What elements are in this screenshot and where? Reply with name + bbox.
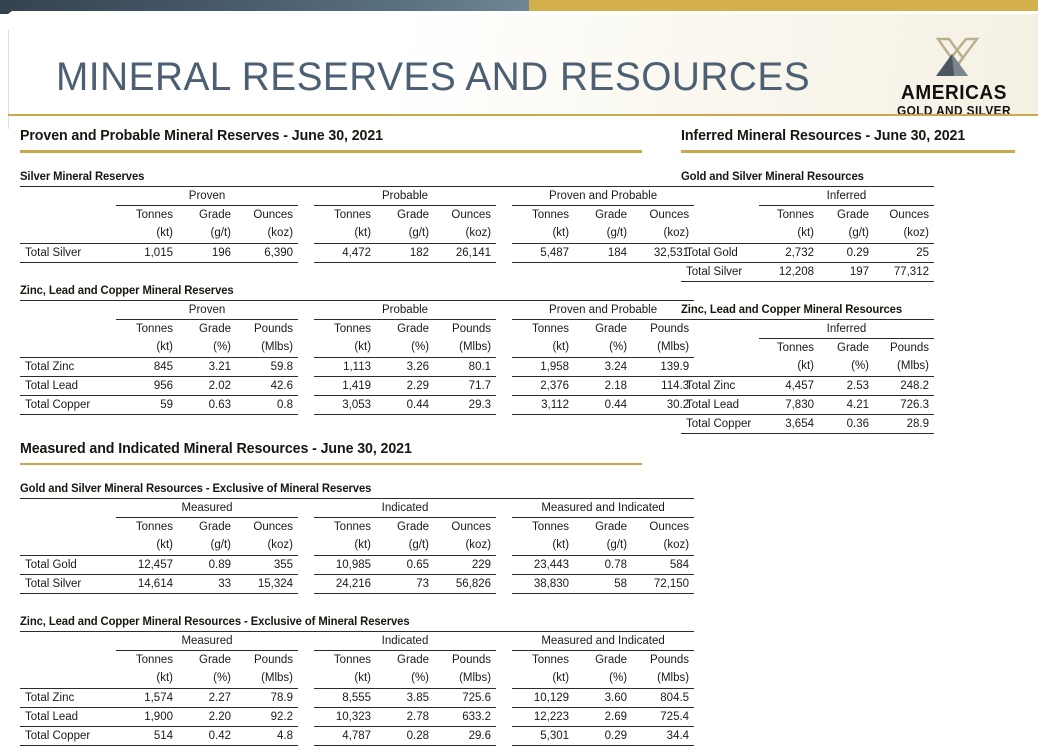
unit-kt: (kt) (512, 536, 574, 556)
cell-value: 56,826 (434, 575, 496, 594)
table-gold-silver-measured-indicated: Measured Indicated Measured and Indicate… (20, 498, 694, 594)
cell-value: 0.28 (376, 727, 434, 746)
unit-mlbs: (Mlbs) (434, 669, 496, 689)
cell-value: 3.26 (376, 357, 434, 376)
cell-value: 80.1 (434, 357, 496, 376)
cell-value: 34.4 (632, 727, 694, 746)
table-row: (kt) (%) (Mlbs) (kt) (%) (Mlbs) (kt) (%)… (20, 338, 694, 358)
unit-koz: (koz) (434, 224, 496, 244)
unit-kt: (kt) (314, 536, 376, 556)
cell-value: 0.44 (574, 395, 632, 414)
unit-gt: (g/t) (178, 224, 236, 244)
unit-kt: (kt) (116, 669, 178, 689)
col-header-ounces: Ounces (236, 518, 298, 537)
unit-mlbs: (Mlbs) (434, 338, 496, 358)
col-header-grade: Grade (574, 205, 632, 224)
col-header-tonnes: Tonnes (116, 319, 178, 338)
gap-cell (496, 338, 512, 358)
cell-value: 25 (874, 243, 934, 262)
subtitle-gold-silver-mi: Gold and Silver Mineral Resources - Excl… (20, 483, 651, 495)
col-header-tonnes: Tonnes (512, 319, 574, 338)
cell-value: 2.53 (819, 376, 874, 395)
gap-cell (298, 376, 314, 395)
gap-cell (298, 708, 314, 727)
col-header-tonnes: Tonnes (116, 651, 178, 670)
gap-cell (298, 632, 314, 651)
unit-koz: (koz) (632, 536, 694, 556)
company-logo: AMERICAS GOLD AND SILVER (880, 36, 1028, 124)
col-header-grade: Grade (178, 651, 236, 670)
table-row: (kt) (%) (Mlbs) (681, 357, 934, 377)
cell-value: 59 (116, 395, 178, 414)
section-title-inferred: Inferred Mineral Resources - June 30, 20… (681, 128, 1012, 144)
spacer-cell (20, 224, 116, 244)
cell-value: 12,457 (116, 556, 178, 575)
spacer-cell (20, 536, 116, 556)
unit-gt: (g/t) (376, 536, 434, 556)
cell-value: 24,216 (314, 575, 376, 594)
col-header-grade: Grade (178, 319, 236, 338)
cell-value: 584 (632, 556, 694, 575)
col-header-grade: Grade (574, 319, 632, 338)
gap-cell (496, 518, 512, 537)
row-label: Total Zinc (681, 376, 759, 395)
gap-cell (298, 300, 314, 319)
group-header-measured: Measured (116, 632, 298, 651)
gap-cell (496, 357, 512, 376)
unit-mlbs: (Mlbs) (236, 338, 298, 358)
cell-value: 10,323 (314, 708, 376, 727)
col-header-grade: Grade (574, 518, 632, 537)
group-header-proven: Proven (116, 300, 298, 319)
top-decorative-bars (0, 0, 1038, 14)
spacer-cell (20, 319, 116, 338)
cell-value: 3.85 (376, 689, 434, 708)
cell-value: 0.8 (236, 395, 298, 414)
slate-accent-bar (0, 0, 529, 11)
section-measured-indicated-resources: Measured and Indicated Mineral Resources… (20, 441, 664, 746)
gap-cell (496, 727, 512, 746)
cell-value: 956 (116, 376, 178, 395)
table-row: Total Zinc 845 3.21 59.8 1,113 3.26 80.1… (20, 357, 694, 376)
cell-value: 23,443 (512, 556, 574, 575)
unit-kt: (kt) (116, 338, 178, 358)
unit-mlbs: (Mlbs) (874, 357, 934, 377)
cell-value: 4,472 (314, 243, 376, 262)
col-header-grade: Grade (376, 205, 434, 224)
spacer-cell (681, 224, 759, 244)
row-label: Total Lead (20, 708, 116, 727)
gap-cell (496, 319, 512, 338)
cell-value: 2.02 (178, 376, 236, 395)
spacer-cell (20, 300, 116, 319)
row-label: Total Silver (20, 575, 116, 594)
table-gold-silver-inferred: Inferred Tonnes Grade Ounces (kt) (g/t) … (681, 186, 934, 282)
section-title-reserves: Proven and Probable Mineral Reserves - J… (20, 128, 651, 144)
unit-mlbs: (Mlbs) (632, 669, 694, 689)
unit-koz: (koz) (434, 536, 496, 556)
cell-value: 4,787 (314, 727, 376, 746)
row-label: Total Copper (20, 727, 116, 746)
row-label: Total Gold (681, 243, 759, 262)
col-header-tonnes: Tonnes (314, 319, 376, 338)
group-header-proven-probable: Proven and Probable (512, 300, 694, 319)
cell-value: 4.8 (236, 727, 298, 746)
table-row: Total Lead 956 2.02 42.6 1,419 2.29 71.7… (20, 376, 694, 395)
unit-gt: (g/t) (574, 536, 632, 556)
gap-cell (496, 536, 512, 556)
cell-value: 2.69 (574, 708, 632, 727)
spacer-cell (20, 338, 116, 358)
cell-value: 633.2 (434, 708, 496, 727)
table-row: Total Zinc 4,457 2.53 248.2 (681, 376, 934, 395)
col-header-ounces: Ounces (434, 518, 496, 537)
cell-value: 1,958 (512, 357, 574, 376)
cell-value: 7,830 (759, 395, 819, 414)
col-header-tonnes: Tonnes (314, 518, 376, 537)
col-header-tonnes: Tonnes (314, 651, 376, 670)
gap-cell (496, 651, 512, 670)
cell-value: 8,555 (314, 689, 376, 708)
gap-cell (298, 319, 314, 338)
cell-value: 78.9 (236, 689, 298, 708)
table-row: Total Silver 14,614 33 15,324 24,216 73 … (20, 575, 694, 594)
gap-cell (298, 518, 314, 537)
subtitle-base-metal-mi: Zinc, Lead and Copper Mineral Resources … (20, 616, 651, 628)
unit-kt: (kt) (116, 224, 178, 244)
gap-cell (496, 669, 512, 689)
cell-value: 0.63 (178, 395, 236, 414)
cell-value: 1,419 (314, 376, 376, 395)
cell-value: 5,301 (512, 727, 574, 746)
cell-value: 0.29 (819, 243, 874, 262)
cell-value: 72,150 (632, 575, 694, 594)
unit-gt: (g/t) (574, 224, 632, 244)
group-header-probable: Probable (314, 300, 496, 319)
unit-pct: (%) (376, 669, 434, 689)
unit-gt: (g/t) (178, 536, 236, 556)
cell-value: 0.36 (819, 414, 874, 433)
col-header-pounds: Pounds (632, 651, 694, 670)
left-column: Proven and Probable Mineral Reserves - J… (20, 128, 664, 746)
cell-value: 10,985 (314, 556, 376, 575)
table-row: (kt) (g/t) (koz) (kt) (g/t) (koz) (kt) (… (20, 224, 694, 244)
americas-logo-mark (916, 36, 988, 82)
gap-cell (496, 395, 512, 414)
cell-value: 0.78 (574, 556, 632, 575)
cell-value: 1,113 (314, 357, 376, 376)
gap-cell (298, 536, 314, 556)
cell-value: 15,324 (236, 575, 298, 594)
gap-cell (298, 205, 314, 224)
unit-kt: (kt) (116, 536, 178, 556)
cell-value: 28.9 (874, 414, 934, 433)
unit-pct: (%) (178, 669, 236, 689)
col-header-tonnes: Tonnes (512, 205, 574, 224)
cell-value: 29.6 (434, 727, 496, 746)
right-column: Inferred Mineral Resources - June 30, 20… (681, 128, 1019, 434)
spacer-cell (20, 651, 116, 670)
table-row: (kt) (g/t) (koz) (kt) (g/t) (koz) (kt) (… (20, 536, 694, 556)
unit-kt: (kt) (314, 338, 376, 358)
group-header-indicated: Indicated (314, 632, 496, 651)
table-row: Measured Indicated Measured and Indicate… (20, 499, 694, 518)
row-label: Total Gold (20, 556, 116, 575)
subtitle-gold-silver-inferred: Gold and Silver Mineral Resources (681, 171, 1012, 183)
unit-koz: (koz) (236, 224, 298, 244)
cell-value: 2.20 (178, 708, 236, 727)
col-header-tonnes: Tonnes (512, 651, 574, 670)
subtitle-base-metal-reserves: Zinc, Lead and Copper Mineral Reserves (20, 285, 651, 297)
section-title-measured-indicated: Measured and Indicated Mineral Resources… (20, 441, 651, 457)
cell-value: 5,487 (512, 243, 574, 262)
table-row: Tonnes Grade Ounces Tonnes Grade Ounces … (20, 205, 694, 224)
table-row: Tonnes Grade Ounces Tonnes Grade Ounces … (20, 518, 694, 537)
cell-value: 248.2 (874, 376, 934, 395)
cell-value: 229 (434, 556, 496, 575)
col-header-pounds: Pounds (434, 651, 496, 670)
group-header-inferred: Inferred (759, 319, 934, 338)
table-row: Total Zinc 1,574 2.27 78.9 8,555 3.85 72… (20, 689, 694, 708)
table-row: Proven Probable Proven and Probable (20, 186, 694, 205)
section-proven-probable-reserves: Proven and Probable Mineral Reserves - J… (20, 128, 664, 415)
col-header-pounds: Pounds (874, 338, 934, 357)
cell-value: 4,457 (759, 376, 819, 395)
spacer-cell (20, 632, 116, 651)
cell-value: 2,376 (512, 376, 574, 395)
cell-value: 3,053 (314, 395, 376, 414)
col-header-grade: Grade (574, 651, 632, 670)
cell-value: 33 (178, 575, 236, 594)
cell-value: 12,208 (759, 262, 819, 281)
gap-cell (298, 669, 314, 689)
table-row: Inferred (681, 319, 934, 338)
gap-cell (298, 395, 314, 414)
unit-kt: (kt) (759, 224, 819, 244)
spacer-cell (681, 357, 759, 377)
col-header-tonnes: Tonnes (314, 205, 376, 224)
cell-value: 0.89 (178, 556, 236, 575)
spacer-cell (681, 205, 759, 224)
row-label: Total Copper (681, 414, 759, 433)
cell-value: 71.7 (434, 376, 496, 395)
unit-kt: (kt) (512, 669, 574, 689)
gap-cell (298, 243, 314, 262)
spacer-cell (681, 338, 759, 357)
group-header-measured-indicated: Measured and Indicated (512, 499, 694, 518)
table-row: Total Lead 7,830 4.21 726.3 (681, 395, 934, 414)
gap-cell (496, 689, 512, 708)
cell-value: 184 (574, 243, 632, 262)
group-header-measured-indicated: Measured and Indicated (512, 632, 694, 651)
col-header-grade: Grade (376, 319, 434, 338)
gap-cell (496, 556, 512, 575)
gap-cell (298, 575, 314, 594)
gap-cell (496, 243, 512, 262)
col-header-grade: Grade (376, 518, 434, 537)
table-row: Measured Indicated Measured and Indicate… (20, 632, 694, 651)
col-header-ounces: Ounces (434, 205, 496, 224)
spacer-cell (20, 499, 116, 518)
col-header-ounces: Ounces (236, 205, 298, 224)
cell-value: 29.3 (434, 395, 496, 414)
row-label: Total Lead (681, 395, 759, 414)
col-header-tonnes: Tonnes (116, 205, 178, 224)
cell-value: 77,312 (874, 262, 934, 281)
gap-cell (298, 499, 314, 518)
col-header-tonnes: Tonnes (512, 518, 574, 537)
cell-value: 58 (574, 575, 632, 594)
unit-kt: (kt) (759, 357, 819, 377)
cell-value: 10,129 (512, 689, 574, 708)
cell-value: 92.2 (236, 708, 298, 727)
group-header-indicated: Indicated (314, 499, 496, 518)
spacer-cell (20, 518, 116, 537)
gap-cell (298, 338, 314, 358)
table-row: Tonnes Grade Ounces (681, 205, 934, 224)
col-header-pounds: Pounds (236, 319, 298, 338)
gap-cell (298, 727, 314, 746)
cell-value: 726.3 (874, 395, 934, 414)
cell-value: 3,654 (759, 414, 819, 433)
unit-mlbs: (Mlbs) (236, 669, 298, 689)
table-base-metal-reserves: Proven Probable Proven and Probable Tonn… (20, 300, 694, 415)
cell-value: 355 (236, 556, 298, 575)
cell-value: 3.24 (574, 357, 632, 376)
cell-value: 2.29 (376, 376, 434, 395)
cell-value: 3.21 (178, 357, 236, 376)
table-base-metal-measured-indicated: Measured Indicated Measured and Indicate… (20, 631, 694, 746)
cell-value: 0.42 (178, 727, 236, 746)
gap-cell (298, 651, 314, 670)
table-row: Total Silver 1,015 196 6,390 4,472 182 2… (20, 243, 694, 262)
table-row: Total Lead 1,900 2.20 92.2 10,323 2.78 6… (20, 708, 694, 727)
row-label: Total Zinc (20, 689, 116, 708)
unit-pct: (%) (574, 669, 632, 689)
gap-cell (298, 689, 314, 708)
gap-cell (496, 300, 512, 319)
table-row: Total Silver 12,208 197 77,312 (681, 262, 934, 281)
unit-kt: (kt) (512, 224, 574, 244)
cell-value: 2.78 (376, 708, 434, 727)
gap-cell (496, 376, 512, 395)
gap-cell (496, 575, 512, 594)
row-label: Total Zinc (20, 357, 116, 376)
unit-pct: (%) (819, 357, 874, 377)
group-header-probable: Probable (314, 186, 496, 205)
table-row: Total Copper 59 0.63 0.8 3,053 0.44 29.3… (20, 395, 694, 414)
cell-value: 42.6 (236, 376, 298, 395)
unit-gt: (g/t) (819, 224, 874, 244)
cell-value: 59.8 (236, 357, 298, 376)
row-label: Total Silver (681, 262, 759, 281)
cell-value: 2.27 (178, 689, 236, 708)
unit-kt: (kt) (314, 224, 376, 244)
spacer-cell (681, 186, 759, 205)
spacer-cell (20, 205, 116, 224)
cell-value: 26,141 (434, 243, 496, 262)
cell-value: 73 (376, 575, 434, 594)
cell-value: 845 (116, 357, 178, 376)
group-header-proven-probable: Proven and Probable (512, 186, 694, 205)
logo-company-name: AMERICAS (884, 82, 1025, 105)
cell-value: 725.6 (434, 689, 496, 708)
cell-value: 4.21 (819, 395, 874, 414)
page-title: MINERAL RESERVES AND RESOURCES (56, 55, 810, 100)
col-header-tonnes: Tonnes (759, 205, 819, 224)
gap-cell (496, 632, 512, 651)
header-gold-rule (8, 114, 1038, 116)
gap-cell (496, 224, 512, 244)
table-row: Total Copper 514 0.42 4.8 4,787 0.28 29.… (20, 727, 694, 746)
cell-value: 2.18 (574, 376, 632, 395)
table-row: Proven Probable Proven and Probable (20, 300, 694, 319)
cell-value: 196 (178, 243, 236, 262)
table-row: Total Gold 2,732 0.29 25 (681, 243, 934, 262)
col-header-grade: Grade (819, 338, 874, 357)
col-header-pounds: Pounds (236, 651, 298, 670)
cell-value: 6,390 (236, 243, 298, 262)
cell-value: 1,574 (116, 689, 178, 708)
group-header-measured: Measured (116, 499, 298, 518)
gap-cell (298, 357, 314, 376)
col-header-grade: Grade (178, 205, 236, 224)
cell-value: 0.65 (376, 556, 434, 575)
gap-cell (298, 224, 314, 244)
cell-value: 38,830 (512, 575, 574, 594)
cell-value: 0.44 (376, 395, 434, 414)
cell-value: 12,223 (512, 708, 574, 727)
cell-value: 2,732 (759, 243, 819, 262)
table-silver-reserves: Proven Probable Proven and Probable Tonn… (20, 186, 694, 263)
table-row: Inferred (681, 186, 934, 205)
unit-kt: (kt) (512, 338, 574, 358)
cell-value: 804.5 (632, 689, 694, 708)
cell-value: 1,900 (116, 708, 178, 727)
cell-value: 725.4 (632, 708, 694, 727)
table-row: (kt) (%) (Mlbs) (kt) (%) (Mlbs) (kt) (%)… (20, 669, 694, 689)
col-header-grade: Grade (178, 518, 236, 537)
spacer-cell (681, 319, 759, 338)
cell-value: 3.60 (574, 689, 632, 708)
cell-value: 3,112 (512, 395, 574, 414)
col-header-grade: Grade (819, 205, 874, 224)
gold-accent-bar (529, 0, 1038, 11)
cell-value: 514 (116, 727, 178, 746)
table-row: Tonnes Grade Pounds Tonnes Grade Pounds … (20, 651, 694, 670)
unit-pct: (%) (376, 338, 434, 358)
table-base-metal-inferred: Inferred Tonnes Grade Pounds (kt) (%) (M… (681, 319, 934, 434)
table-row: Total Copper 3,654 0.36 28.9 (681, 414, 934, 433)
unit-pct: (%) (574, 338, 632, 358)
col-header-pounds: Pounds (434, 319, 496, 338)
col-header-tonnes: Tonnes (116, 518, 178, 537)
row-label: Total Silver (20, 243, 116, 262)
col-header-ounces: Ounces (632, 518, 694, 537)
gap-cell (496, 708, 512, 727)
section-inferred-resources: Inferred Mineral Resources - June 30, 20… (681, 128, 1019, 434)
cell-value: 182 (376, 243, 434, 262)
table-row: Tonnes Grade Pounds Tonnes Grade Pounds … (20, 319, 694, 338)
row-label: Total Copper (20, 395, 116, 414)
table-row: (kt) (g/t) (koz) (681, 224, 934, 244)
table-row: Tonnes Grade Pounds (681, 338, 934, 357)
col-header-grade: Grade (376, 651, 434, 670)
unit-pct: (%) (178, 338, 236, 358)
col-header-ounces: Ounces (874, 205, 934, 224)
cell-value: 197 (819, 262, 874, 281)
row-label: Total Lead (20, 376, 116, 395)
